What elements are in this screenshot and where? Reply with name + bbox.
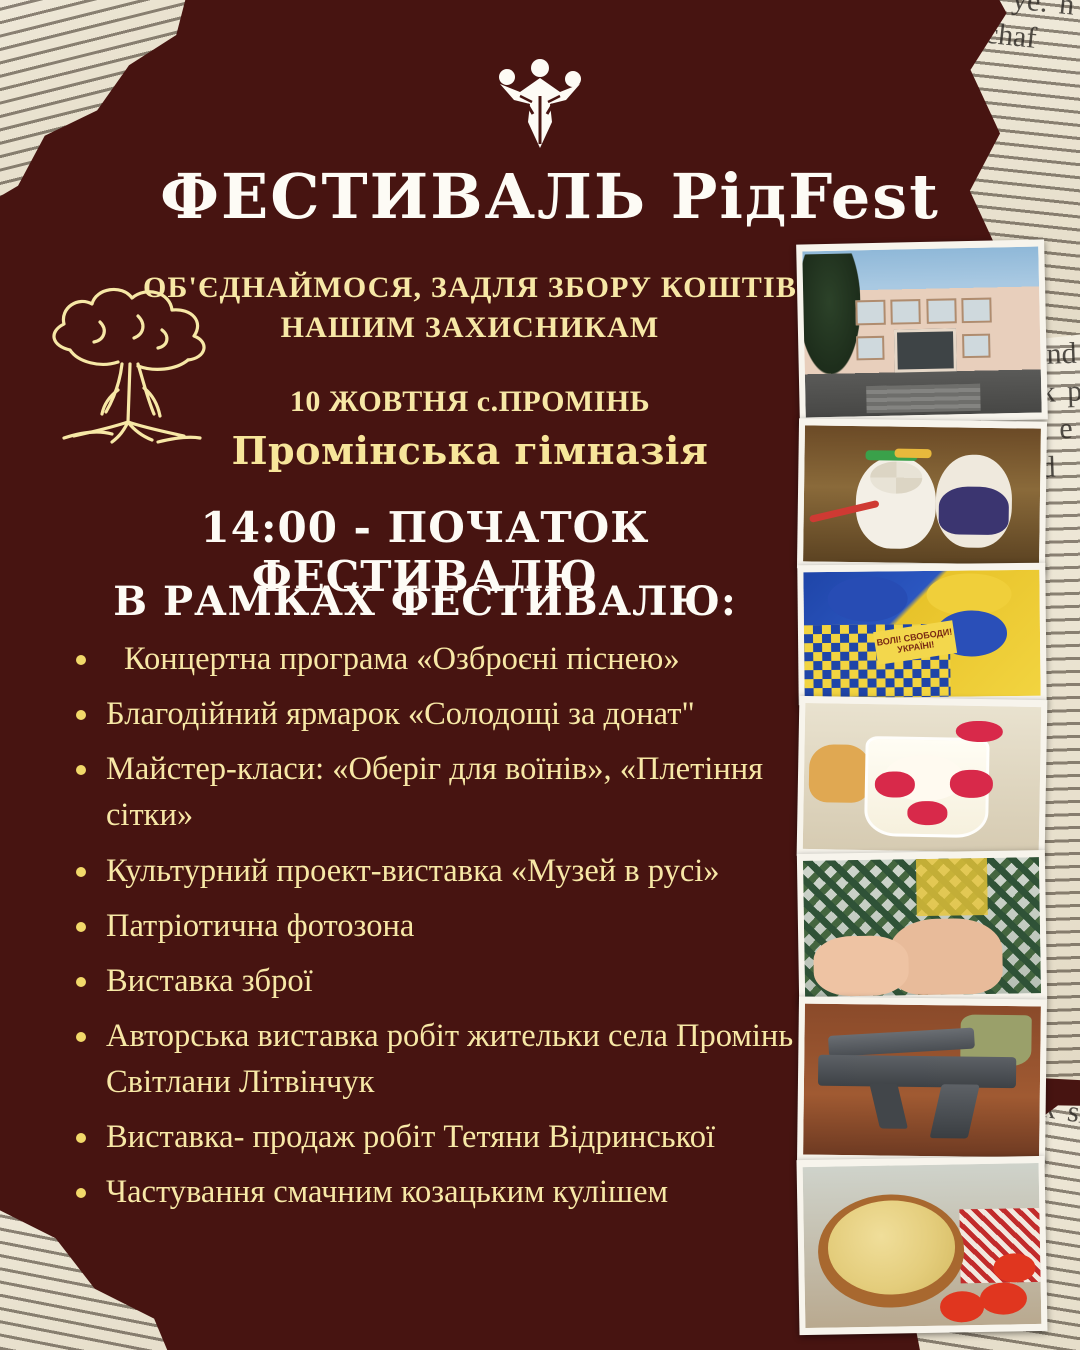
date-and-place: 10 ЖОВТНЯ с.ПРОМІНЬ bbox=[120, 385, 820, 419]
list-item: Культурний проект-виставка «Музей в русі… bbox=[62, 848, 802, 894]
list-item: Патріотична фотозона bbox=[62, 903, 802, 949]
list-item: Концертна програма «Озброєні піснею» bbox=[62, 636, 802, 682]
venue-name: Промінська гімназія bbox=[120, 428, 820, 473]
festival-poster: atch ti night . ng, th ti s ch hi y. lac… bbox=[0, 0, 1080, 1350]
list-item: Частування смачним козацьким кулішем bbox=[62, 1169, 802, 1215]
poster-subtitle: ОБ'ЄДНАЙМОСЯ, ЗАДЛЯ ЗБОРУ КОШТІВ НАШИМ З… bbox=[120, 268, 820, 348]
list-item: Авторська виставка робіт жительки села П… bbox=[62, 1013, 802, 1105]
list-item: Благодійний ярмарок «Солодощі за донат" bbox=[62, 691, 802, 737]
program-heading: В РАМКАХ ФЕСТИВАЛЮ: bbox=[30, 578, 820, 625]
list-item: Майстер-класи: «Оберіг для воїнів», «Пле… bbox=[62, 746, 802, 838]
list-item: Виставка- продаж робіт Тетяни Відринсько… bbox=[62, 1114, 802, 1160]
page-title: ФЕСТИВАЛЬ РідFest bbox=[0, 160, 1080, 233]
program-list: Концертна програма «Озброєні піснею» Бла… bbox=[62, 636, 802, 1225]
list-item: Виставка зброї bbox=[62, 958, 802, 1004]
